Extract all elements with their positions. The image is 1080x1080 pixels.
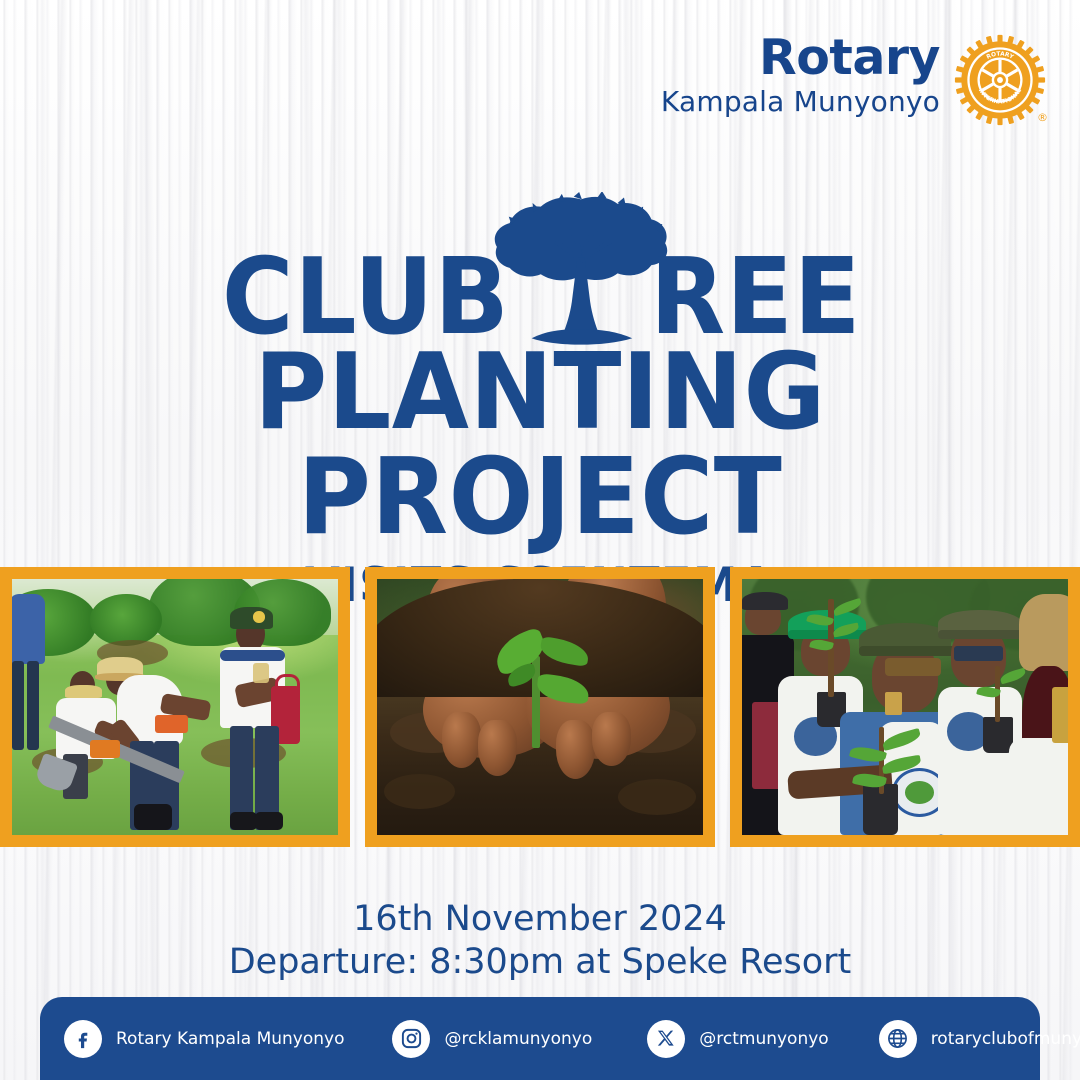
poster-canvas: Rotary Kampala Munyonyo [0,0,1080,1080]
social-x-twitter[interactable]: @rctmunyonyo [647,1020,828,1058]
website-handle: rotaryclubofmunyonyo [931,1029,1080,1049]
photo-strip [0,567,1080,847]
tree-icon [489,192,673,352]
rotary-wheel-icon: ROTARY INTERNATIONAL [954,34,1046,126]
instagram-icon[interactable] [392,1020,430,1058]
social-website[interactable]: rotaryclubofmunyonyo [879,1020,1080,1058]
facebook-handle: Rotary Kampala Munyonyo [116,1029,344,1049]
registered-trademark-mark: ® [1037,111,1048,124]
x-twitter-handle: @rctmunyonyo [699,1029,828,1049]
globe-website-icon[interactable] [879,1020,917,1058]
rotary-name: Rotary [759,34,940,81]
headline-line-2: PLANTING PROJECT [27,340,1053,550]
rotary-club-name: Kampala Munyonyo [661,84,940,119]
event-date: 16th November 2024 [0,898,1080,941]
social-footer-bar: Rotary Kampala Munyonyo @rcklamunyonyo @… [40,997,1040,1080]
photo-card-hands-seedling [365,567,715,847]
headline-block: CLUB [0,250,1080,609]
photo-card-volunteers-digging [0,567,350,847]
photo-image-volunteers-digging [12,579,338,835]
photo-image-hands-seedling [377,579,703,835]
rotary-wheel-wrapper: ROTARY INTERNATIONAL ® [954,34,1046,126]
photo-card-group-saplings [730,567,1080,847]
event-departure: Departure: 8:30pm at Speke Resort [0,941,1080,984]
x-twitter-icon[interactable] [647,1020,685,1058]
photo-image-group-saplings [742,579,1068,835]
rotary-masthead: Rotary Kampala Munyonyo [661,34,1046,126]
facebook-icon[interactable] [64,1020,102,1058]
rotary-wordmark: Rotary Kampala Munyonyo [661,34,940,119]
instagram-handle: @rcklamunyonyo [444,1029,592,1049]
social-facebook[interactable]: Rotary Kampala Munyonyo [64,1020,344,1058]
social-instagram[interactable]: @rcklamunyonyo [392,1020,592,1058]
event-details: 16th November 2024 Departure: 8:30pm at … [0,898,1080,983]
